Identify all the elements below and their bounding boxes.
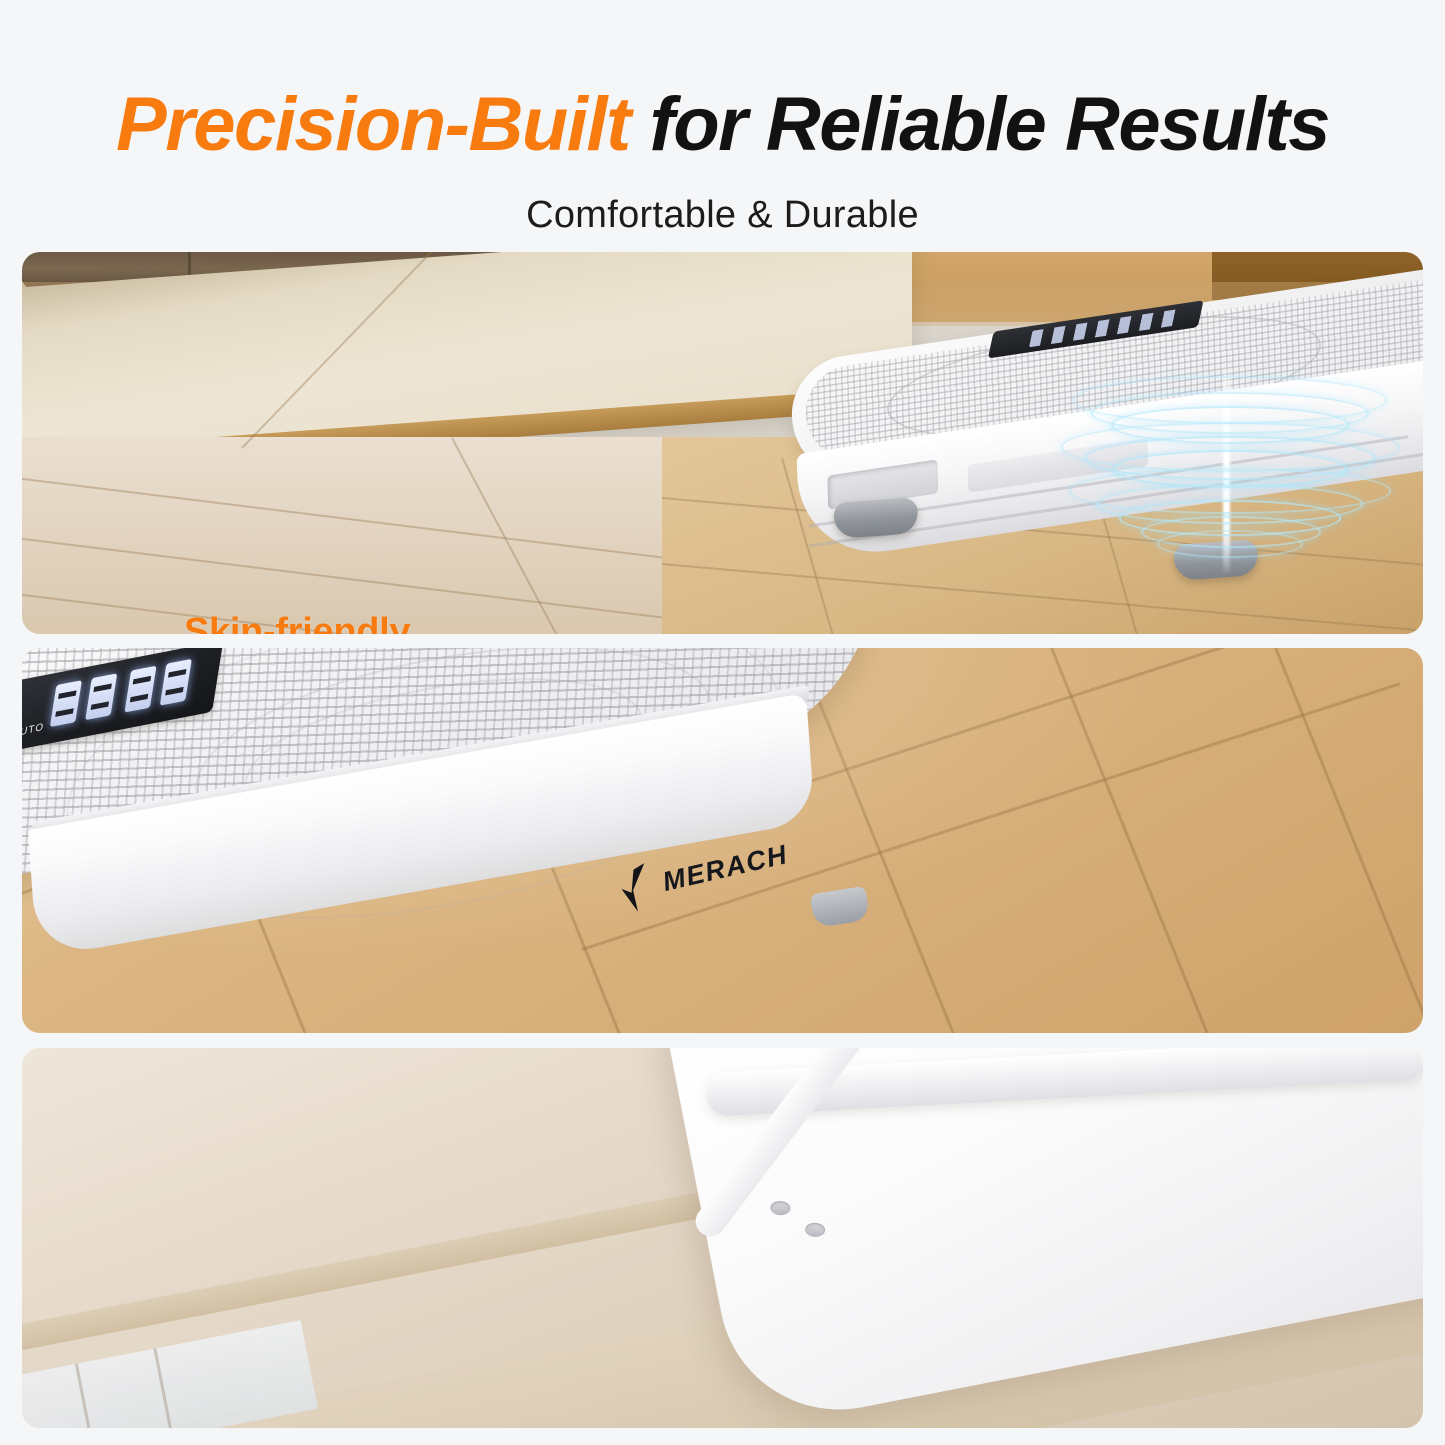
page-header: Precision-Built for Reliable Results Com… — [0, 0, 1445, 252]
scene-living-room — [22, 252, 1423, 634]
caption-accent-line: Skin-friendly — [184, 610, 433, 634]
page-title: Precision-Built for Reliable Results — [0, 82, 1445, 168]
screw-hole — [805, 1222, 826, 1237]
lcd-digit — [124, 666, 156, 713]
headline-rest-text: for Reliable Results — [630, 82, 1329, 167]
caption-skin-friendly: Skin-friendly silicone pedal — [184, 610, 433, 634]
feature-panel-skin-friendly: Skin-friendly silicone pedal — [22, 252, 1423, 634]
lcd-auto-label: AUTO — [22, 721, 45, 740]
page-subtitle: Comfortable & Durable — [0, 192, 1445, 238]
vibration-plate-deck: TIME AUTO — [22, 648, 882, 964]
feature-panel-anti-slip: Anti-slip suction cup — [22, 1048, 1423, 1428]
feature-panel-shock-absorbing: TIME AUTO MERACH Shock-absorbing constru… — [22, 648, 1423, 1033]
lcd-digit — [85, 673, 117, 720]
floor-seam — [662, 563, 1423, 633]
floor-seam — [22, 473, 736, 568]
machine-vent-right — [968, 438, 1149, 493]
screw-hole — [770, 1201, 791, 1216]
scene-pedal-closeup: TIME AUTO MERACH — [22, 648, 1423, 1033]
headline-accent-text: Precision-Built — [116, 82, 630, 167]
scene-underside — [22, 1048, 1423, 1428]
vibration-plate-machine — [792, 310, 1423, 570]
lcd-digit — [160, 659, 192, 706]
lcd-digit — [50, 680, 82, 727]
